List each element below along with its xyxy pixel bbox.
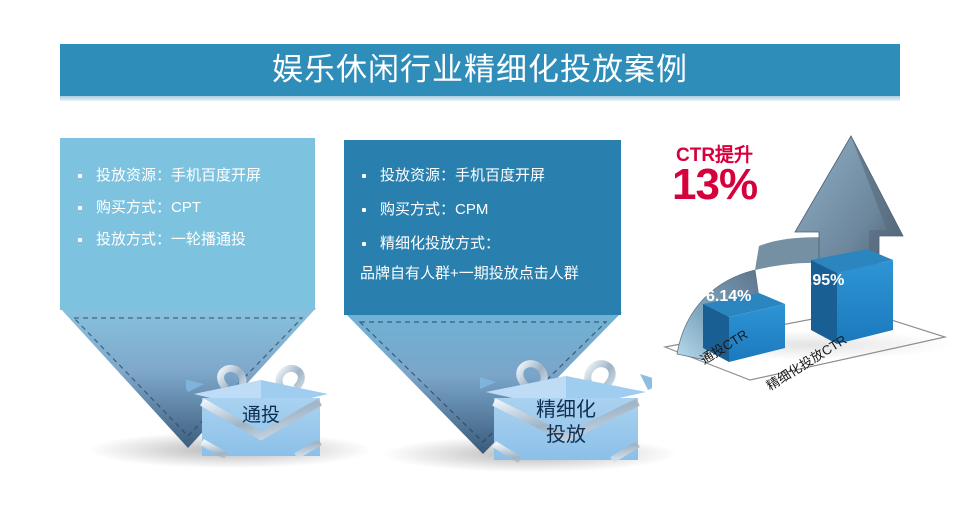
bullet-icon	[362, 208, 366, 212]
gift-box-right	[480, 352, 652, 464]
bar-value-tongtou: 6.14%	[706, 288, 751, 306]
list-item: 购买方式：CPT	[74, 198, 305, 217]
bullet-icon	[362, 242, 366, 246]
bullet-label: 投放资源：手机百度开屏	[96, 166, 305, 185]
panel-tongtou-bullets: 投放资源：手机百度开屏 购买方式：CPT 投放方式：一轮播通投	[60, 138, 315, 262]
slide-canvas: 娱乐休闲行业精细化投放案例	[0, 0, 960, 514]
panel-tongtou: 投放资源：手机百度开屏 购买方式：CPT 投放方式：一轮播通投	[60, 138, 315, 310]
bullet-icon	[78, 174, 82, 178]
list-item: 投放资源：手机百度开屏	[74, 166, 305, 185]
bullet-icon	[78, 206, 82, 210]
panel-jingxihua-bullets: 投放资源：手机百度开屏 购买方式：CPM 精细化投放方式： 品牌自有人群+一期投…	[344, 140, 621, 283]
list-item: 投放方式：一轮播通投	[74, 230, 305, 249]
bullet-icon	[78, 238, 82, 242]
bullet-label: 购买方式：CPM	[380, 200, 611, 219]
bullet-label: 精细化投放方式：	[380, 234, 611, 253]
list-item: 精细化投放方式：	[358, 234, 611, 253]
bar-value-jingxihua: 6.95%	[799, 272, 844, 290]
bullet-icon	[362, 174, 366, 178]
list-item: 购买方式：CPM	[358, 200, 611, 219]
list-item: 投放资源：手机百度开屏	[358, 166, 611, 185]
bullet-label: 购买方式：CPT	[96, 198, 305, 217]
bullet-label: 投放方式：一轮播通投	[96, 230, 305, 249]
panel-jingxihua: 投放资源：手机百度开屏 购买方式：CPM 精细化投放方式： 品牌自有人群+一期投…	[344, 140, 621, 315]
bullet-label: 投放资源：手机百度开屏	[380, 166, 611, 185]
ctr-uplift-value: 13%	[672, 160, 757, 210]
gift-box-left	[186, 358, 336, 458]
page-title: 娱乐休闲行业精细化投放案例	[60, 44, 900, 96]
panel-jingxihua-subline: 品牌自有人群+一期投放点击人群	[360, 264, 611, 283]
title-bar-underline	[60, 96, 900, 101]
